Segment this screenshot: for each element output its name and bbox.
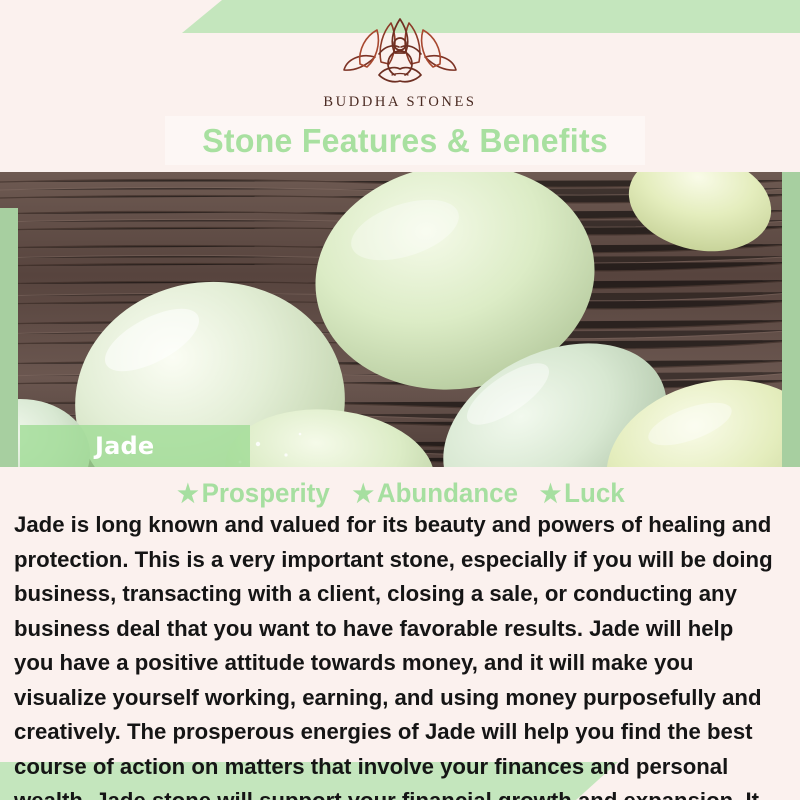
photo-edge-accent-left [0, 208, 18, 467]
benefit-item-prosperity: ★Prosperity [177, 478, 330, 509]
star-icon: ★ [352, 480, 374, 508]
benefit-item-luck: ★Luck [540, 478, 625, 509]
brand-logo-block: BUDDHA STONES [0, 16, 800, 111]
lotus-meditation-icon [335, 16, 465, 86]
page-title: Stone Features & Benefits [202, 122, 608, 160]
section-title-banner: Stone Features & Benefits [165, 116, 645, 165]
stone-name-label: Jade [95, 432, 154, 460]
benefit-label: Abundance [377, 478, 518, 508]
product-info-card: BUDDHA STONES Stone Features & Benefits [0, 0, 800, 800]
benefit-label: Luck [564, 478, 625, 508]
benefit-item-abundance: ★Abundance [352, 478, 518, 509]
stone-photo [0, 172, 800, 467]
star-icon: ★ [540, 480, 562, 508]
stone-description: Jade is long known and valued for its be… [14, 508, 777, 800]
stone-name-tag: Jade [20, 425, 250, 467]
brand-name: BUDDHA STONES [0, 94, 800, 111]
star-icon: ★ [177, 480, 199, 508]
benefit-label: Prosperity [201, 478, 329, 508]
benefits-list: ★Prosperity ★Abundance ★Luck [0, 478, 800, 509]
photo-edge-accent-right [782, 172, 800, 467]
